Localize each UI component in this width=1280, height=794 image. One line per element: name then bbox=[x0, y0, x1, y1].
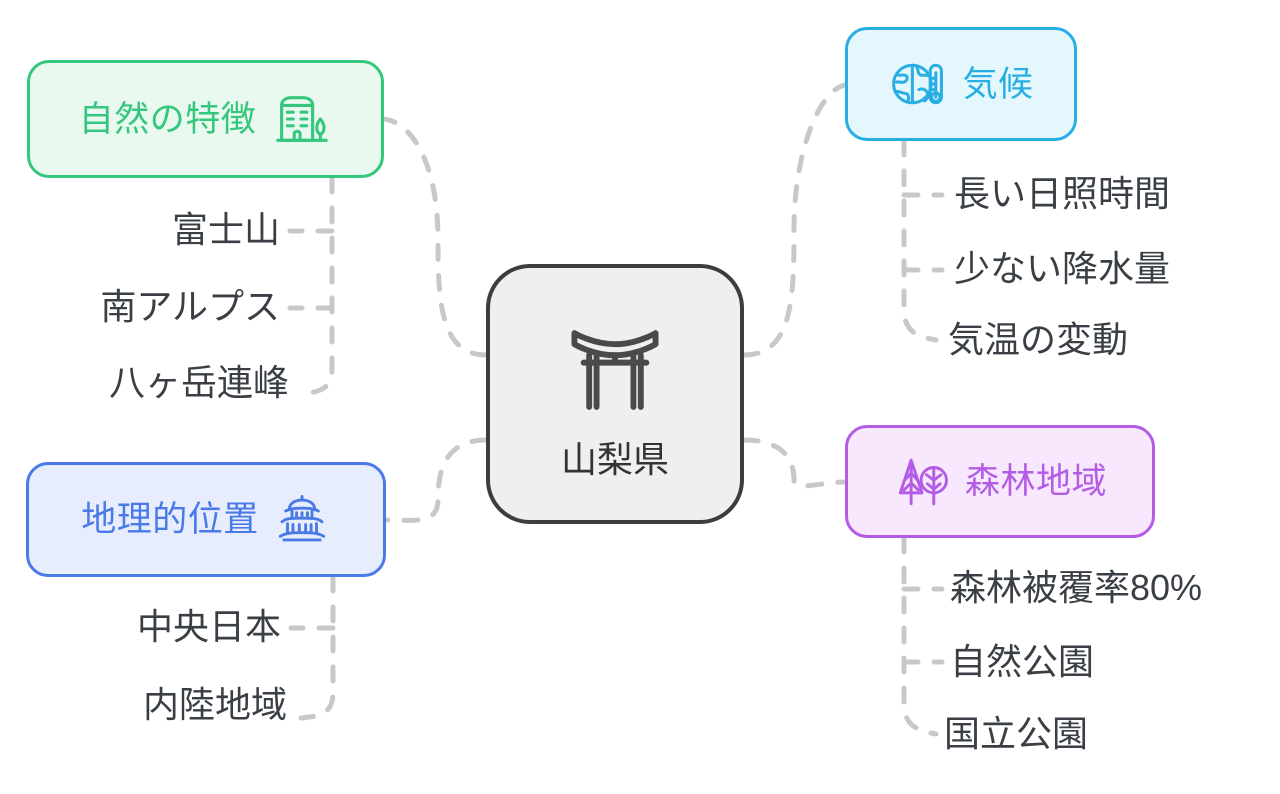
leaf-climate-0: 長い日照時間 bbox=[954, 176, 1170, 212]
branch-node-nature[interactable]: 自然の特徴 bbox=[27, 60, 384, 178]
branch-node-geography-label: 地理的位置 bbox=[81, 502, 259, 537]
center-node-label: 山梨県 bbox=[561, 442, 669, 478]
torii-gate-icon bbox=[556, 311, 674, 434]
branch-node-climate-label: 気候 bbox=[962, 67, 1033, 102]
branch-node-forest-label: 森林地域 bbox=[965, 464, 1107, 499]
leaf-climate-2: 気温の変動 bbox=[948, 322, 1128, 358]
branch-node-forest[interactable]: 森林地域 bbox=[845, 425, 1155, 538]
leaf-climate-1: 少ない降水量 bbox=[954, 251, 1170, 287]
mindmap-canvas: 山梨県 自然の特徴 富士山 南アルプス 八ヶ岳連峰 bbox=[0, 0, 1280, 794]
leaf-forest-1: 自然公園 bbox=[950, 644, 1094, 680]
leaf-nature-1: 南アルプス bbox=[100, 289, 280, 325]
pagoda-icon bbox=[273, 491, 331, 549]
branch-node-nature-label: 自然の特徴 bbox=[79, 102, 257, 137]
center-node[interactable]: 山梨県 bbox=[486, 264, 744, 524]
link-center-nature bbox=[384, 119, 486, 355]
branch-node-climate[interactable]: 気候 bbox=[845, 27, 1077, 141]
link-climate-trunk bbox=[904, 141, 936, 340]
building-with-tree-icon bbox=[270, 88, 332, 150]
leaf-nature-2: 八ヶ岳連峰 bbox=[109, 365, 289, 401]
leaf-forest-2: 国立公園 bbox=[944, 716, 1088, 752]
link-center-climate bbox=[744, 85, 845, 355]
leaf-geography-0: 中央日本 bbox=[137, 609, 281, 645]
link-center-forest bbox=[744, 440, 845, 486]
leaf-geography-1: 内陸地域 bbox=[143, 687, 287, 723]
link-forest-trunk bbox=[904, 538, 936, 734]
globe-thermometer-icon bbox=[888, 54, 948, 114]
branch-node-geography[interactable]: 地理的位置 bbox=[26, 462, 386, 577]
leaf-nature-0: 富士山 bbox=[172, 212, 280, 248]
two-trees-icon bbox=[893, 453, 951, 511]
link-center-geography bbox=[386, 440, 486, 520]
leaf-forest-0: 森林被覆率80% bbox=[950, 570, 1202, 606]
link-geography-trunk bbox=[301, 577, 333, 718]
link-nature-trunk bbox=[300, 178, 332, 394]
